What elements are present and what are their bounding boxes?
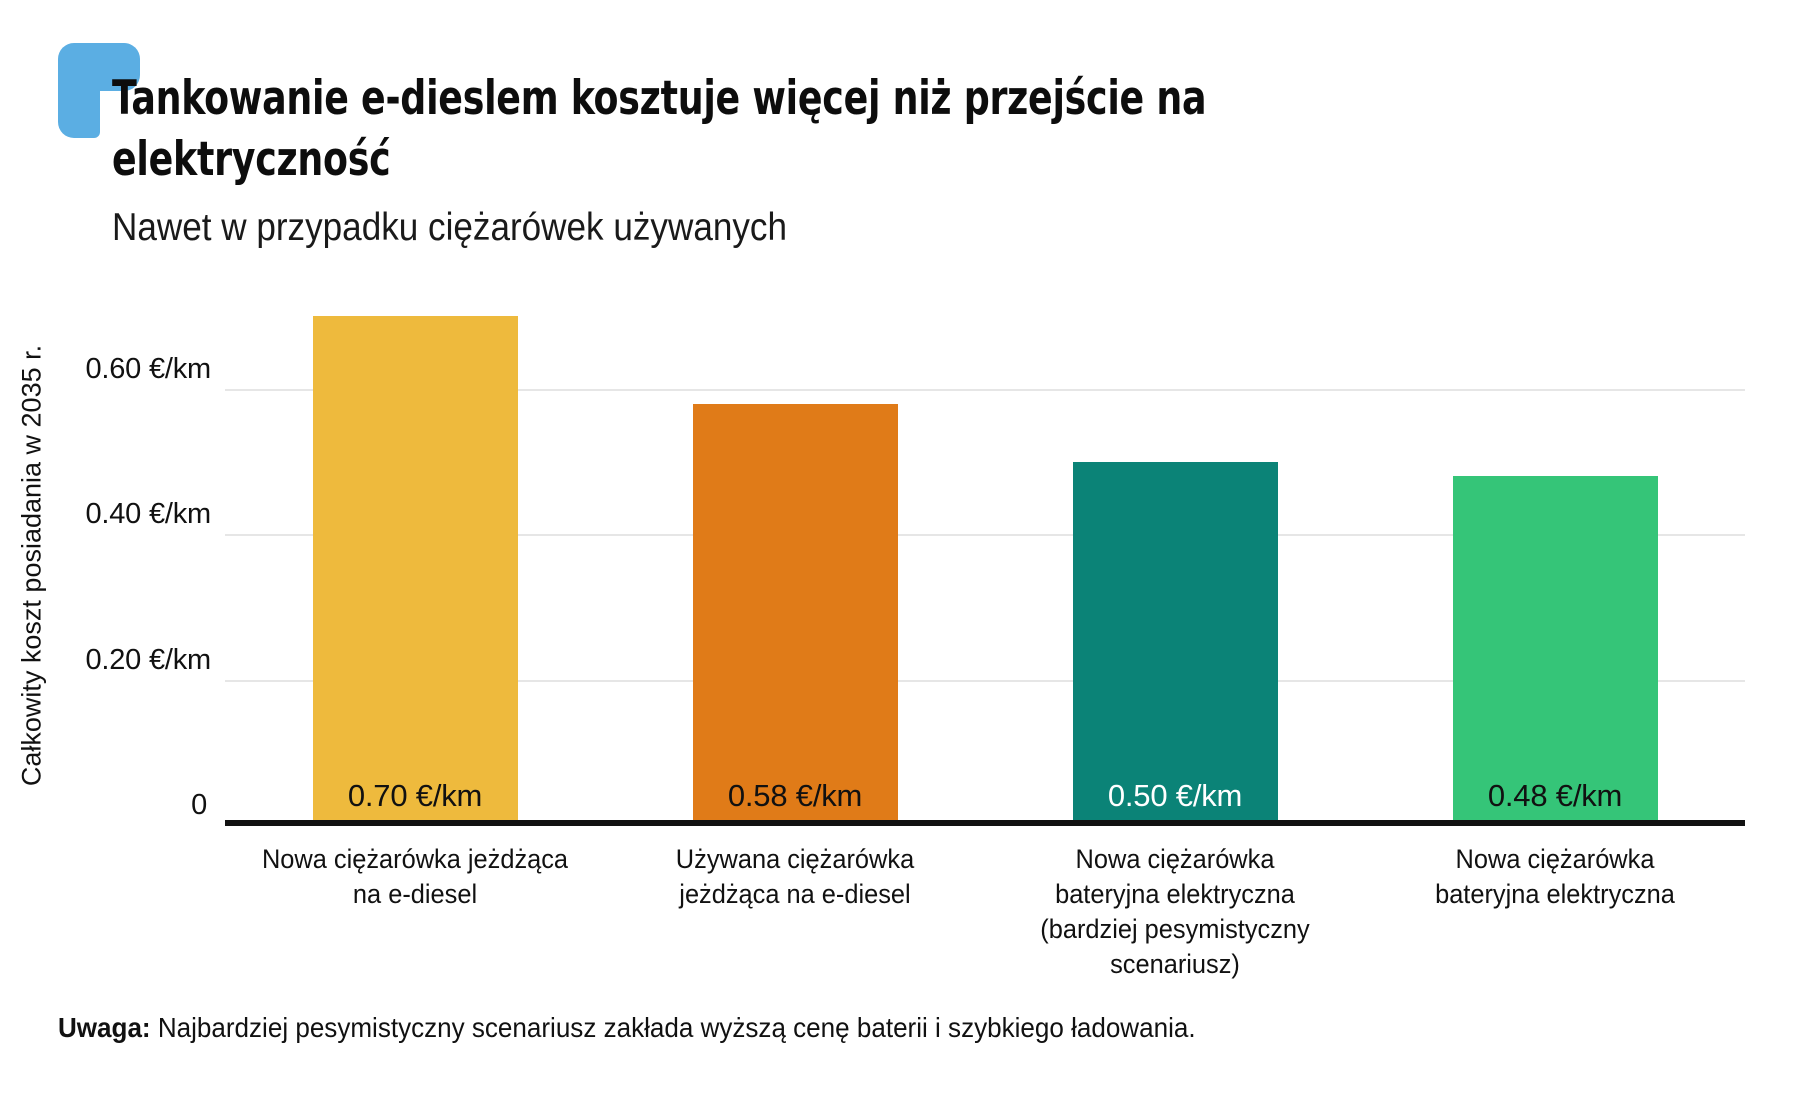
bar[interactable]: 0.48 €/km <box>1453 476 1658 825</box>
x-axis-category-label: Nowa ciężarówka bateryjna elektryczna (b… <box>985 842 1365 982</box>
bar-value-label: 0.58 €/km <box>728 778 862 825</box>
x-axis-category-label: Używana ciężarówka jeżdżąca na e-diesel <box>605 842 985 982</box>
x-axis-category-label: Nowa ciężarówka bateryjna elektryczna <box>1365 842 1745 982</box>
y-axis-tick-label: 0.20 €/km <box>85 644 211 677</box>
bar[interactable]: 0.58 €/km <box>693 404 898 825</box>
x-axis-labels: Nowa ciężarówka jeżdżąca na e-dieselUżyw… <box>225 842 1745 982</box>
footnote-text: Najbardziej pesymistyczny scenariusz zak… <box>151 1012 1196 1043</box>
bar-chart: Całkowity koszt posiadania w 2035 r. 0.6… <box>0 270 1794 890</box>
page-subtitle: Nawet w przypadku ciężarówek używanych <box>112 206 1372 251</box>
bar[interactable]: 0.50 €/km <box>1073 462 1278 825</box>
y-axis-title: Całkowity koszt posiadania w 2035 r. <box>17 296 48 836</box>
y-axis-tick-label: 0 <box>191 789 207 822</box>
footnote-label: Uwaga: <box>58 1012 151 1043</box>
bar-slot: 0.48 €/km <box>1365 280 1745 825</box>
bar-slot: 0.70 €/km <box>225 280 605 825</box>
bar-value-label: 0.70 €/km <box>348 778 482 825</box>
bar-series: 0.70 €/km0.58 €/km0.50 €/km0.48 €/km <box>225 280 1745 825</box>
x-axis-category-label: Nowa ciężarówka jeżdżąca na e-diesel <box>225 842 605 982</box>
bar[interactable]: 0.70 €/km <box>313 316 518 825</box>
bar-slot: 0.50 €/km <box>985 280 1365 825</box>
bar-value-label: 0.50 €/km <box>1108 778 1242 825</box>
plot-area: 0.60 €/km0.40 €/km0.20 €/km0 0.70 €/km0.… <box>225 280 1745 825</box>
y-axis-tick-label: 0.40 €/km <box>85 498 211 531</box>
bar-slot: 0.58 €/km <box>605 280 985 825</box>
bar-value-label: 0.48 €/km <box>1488 778 1622 825</box>
page-title: Tankowanie e-dieslem kosztuje więcej niż… <box>112 68 1402 190</box>
x-axis-line <box>225 820 1745 826</box>
y-axis-tick-label: 0.60 €/km <box>85 353 211 386</box>
footnote: Uwaga: Najbardziej pesymistyczny scenari… <box>58 1012 1639 1044</box>
